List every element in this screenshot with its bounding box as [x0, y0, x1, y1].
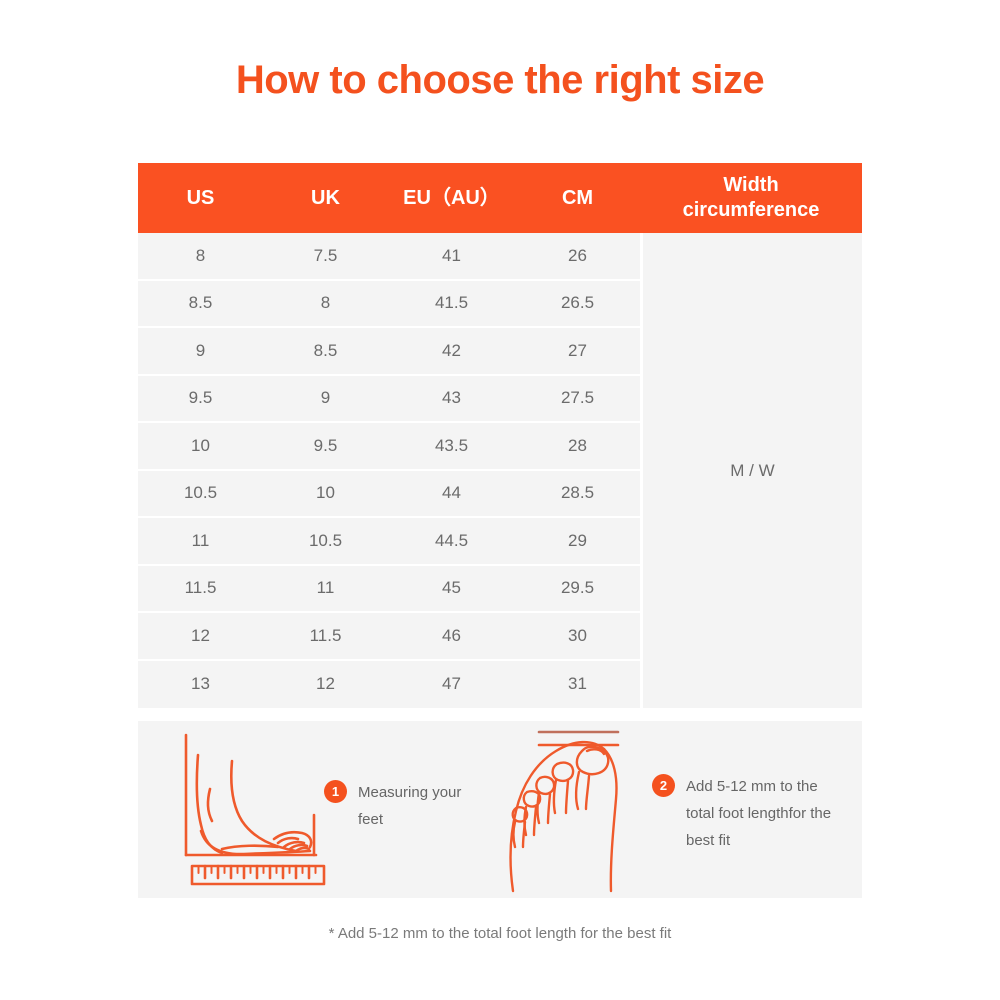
cell-cm: 26.5	[515, 281, 640, 327]
cell-eu: 41.5	[388, 281, 515, 327]
cell-uk: 11.5	[263, 613, 388, 659]
cell-cm: 29.5	[515, 566, 640, 612]
column-header-uk: UK	[263, 163, 388, 233]
footnote: * Add 5-12 mm to the total foot length f…	[0, 925, 1000, 942]
cell-cm: 28	[515, 423, 640, 469]
size-chart-table: US UK EU（AU） CM Width circumference 87.5…	[138, 163, 862, 708]
cell-eu: 42	[388, 328, 515, 374]
step-2-text: Add 5-12 mm to the total foot lengthfor …	[686, 773, 842, 854]
page-title: How to choose the right size	[0, 58, 1000, 103]
cell-eu: 43.5	[388, 423, 515, 469]
column-header-width-line2: circumference	[683, 198, 820, 223]
cell-uk: 9.5	[263, 423, 388, 469]
width-circumference-value: M / W	[643, 233, 862, 708]
table-header-row: US UK EU（AU） CM Width circumference	[138, 163, 862, 233]
table-row: 1211.54630	[138, 613, 640, 661]
column-header-eu: EU（AU）	[388, 163, 515, 233]
cell-uk: 9	[263, 376, 388, 422]
cell-uk: 12	[263, 661, 388, 709]
table-row: 98.54227	[138, 328, 640, 376]
cell-uk: 8	[263, 281, 388, 327]
cell-eu: 45	[388, 566, 515, 612]
table-row: 11.5114529.5	[138, 566, 640, 614]
table-row: 13124731	[138, 661, 640, 709]
cell-us: 11.5	[138, 566, 263, 612]
cell-uk: 10	[263, 471, 388, 517]
cell-cm: 27	[515, 328, 640, 374]
step-2-number: 2	[652, 774, 675, 797]
cell-eu: 44	[388, 471, 515, 517]
column-header-us: US	[138, 163, 263, 233]
table-row: 9.594327.5	[138, 376, 640, 424]
size-chart-page: How to choose the right size US UK EU（AU…	[0, 0, 1000, 1000]
step-1-number: 1	[324, 780, 347, 803]
instructions-panel: 1 Measuring your feet 2 Add 5-12 mm to t…	[138, 721, 862, 898]
cell-us: 8.5	[138, 281, 263, 327]
foot-top-view-icon	[496, 723, 631, 893]
cell-uk: 11	[263, 566, 388, 612]
table-body: 87.541268.5841.526.598.542279.594327.510…	[138, 233, 862, 708]
cell-uk: 7.5	[263, 233, 388, 279]
cell-uk: 8.5	[263, 328, 388, 374]
step-2: 2 Add 5-12 mm to the total foot lengthfo…	[652, 773, 842, 854]
cell-us: 9	[138, 328, 263, 374]
cell-cm: 31	[515, 661, 640, 709]
cell-eu: 43	[388, 376, 515, 422]
table-row: 1110.544.529	[138, 518, 640, 566]
cell-us: 9.5	[138, 376, 263, 422]
table-row: 87.54126	[138, 233, 640, 281]
cell-uk: 10.5	[263, 518, 388, 564]
table-row: 109.543.528	[138, 423, 640, 471]
cell-us: 10.5	[138, 471, 263, 517]
cell-eu: 46	[388, 613, 515, 659]
cell-us: 10	[138, 423, 263, 469]
cell-us: 11	[138, 518, 263, 564]
foot-side-view-icon	[174, 727, 334, 892]
cell-cm: 27.5	[515, 376, 640, 422]
column-header-width-circumference: Width circumference	[640, 163, 862, 233]
column-header-width-line1: Width	[683, 173, 820, 198]
cell-us: 12	[138, 613, 263, 659]
table-row: 8.5841.526.5	[138, 281, 640, 329]
cell-cm: 29	[515, 518, 640, 564]
cell-cm: 30	[515, 613, 640, 659]
table-row: 10.5104428.5	[138, 471, 640, 519]
step-1-text: Measuring your feet	[358, 779, 464, 833]
cell-us: 8	[138, 233, 263, 279]
table-rows: 87.541268.5841.526.598.542279.594327.510…	[138, 233, 640, 708]
cell-eu: 41	[388, 233, 515, 279]
cell-eu: 47	[388, 661, 515, 709]
cell-us: 13	[138, 661, 263, 709]
cell-eu: 44.5	[388, 518, 515, 564]
cell-cm: 26	[515, 233, 640, 279]
column-header-cm: CM	[515, 163, 640, 233]
step-1: 1 Measuring your feet	[324, 779, 464, 833]
cell-cm: 28.5	[515, 471, 640, 517]
